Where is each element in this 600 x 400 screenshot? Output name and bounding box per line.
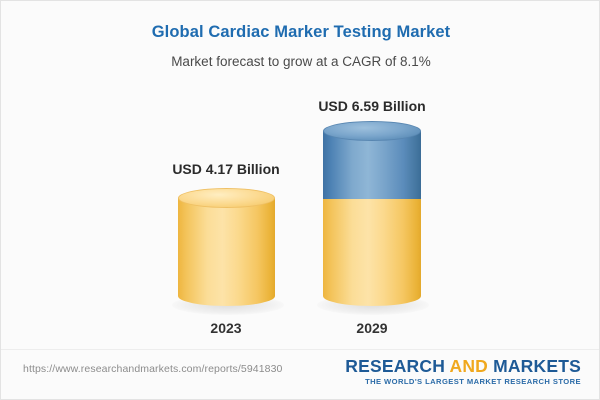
bar-cylinder-2023[interactable] [178, 188, 275, 307]
chart-card: Global Cardiac Marker Testing Market Mar… [0, 0, 600, 400]
bar-cylinder-2029[interactable] [323, 121, 421, 307]
logo-word-markets: MARKETS [493, 356, 581, 376]
bar-body-growth-2029 [323, 131, 421, 199]
chart-plot-area: USD 4.17 Billion 2023 USD 6.59 Billion 2… [1, 1, 600, 349]
report-url[interactable]: https://www.researchandmarkets.com/repor… [23, 363, 282, 375]
logo-word-and: AND [449, 356, 488, 376]
bar-body-base-2029 [323, 198, 421, 296]
logo-word-research: RESEARCH [345, 356, 445, 376]
logo-wordmark: RESEARCH AND MARKETS [345, 357, 581, 375]
research-and-markets-logo[interactable]: RESEARCH AND MARKETS THE WORLD'S LARGEST… [345, 357, 581, 386]
bar-top-ellipse-2029 [323, 121, 421, 141]
bar-body-2023 [178, 198, 275, 296]
category-label-2029: 2029 [292, 320, 452, 336]
category-label-2023: 2023 [146, 320, 306, 336]
bar-value-label-2029: USD 6.59 Billion [262, 98, 482, 114]
bar-value-label-2023: USD 4.17 Billion [116, 161, 336, 177]
bar-top-ellipse-2023 [178, 188, 275, 208]
logo-tagline: THE WORLD'S LARGEST MARKET RESEARCH STOR… [345, 377, 581, 386]
footer: https://www.researchandmarkets.com/repor… [1, 349, 600, 400]
